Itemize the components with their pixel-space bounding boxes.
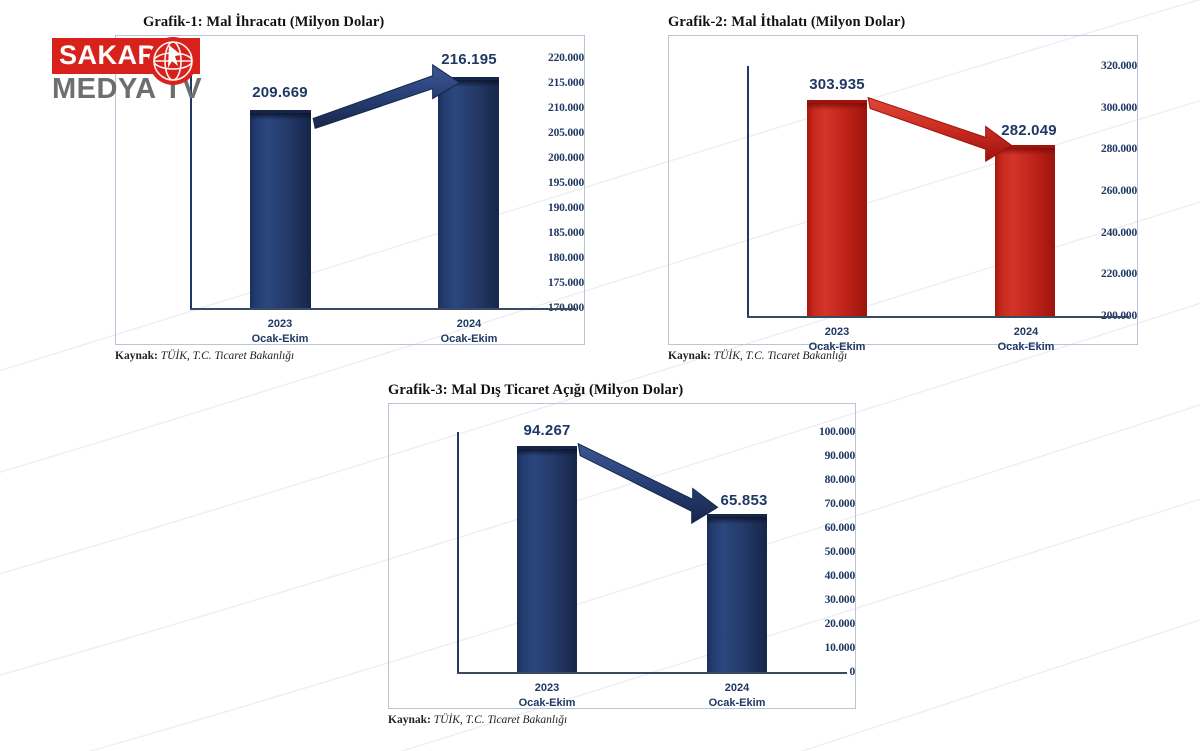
source-label-grafik-2: Kaynak: <box>668 350 711 362</box>
ytick-grafik-2-1: 300.000 <box>1065 102 1137 114</box>
ytick-grafik-3-3: 70.000 <box>793 498 855 510</box>
chart-panel-grafik-2: Grafik-2: Mal İthalatı (Milyon Dolar) 32… <box>668 14 1138 362</box>
ytick-grafik-2-2: 280.000 <box>1065 143 1137 155</box>
ytick-grafik-1-6: 190.000 <box>516 202 584 214</box>
category-period-grafik-3-2024: Ocak-Ekim <box>709 697 766 709</box>
value-label-grafik-1-2023: 209.669 <box>252 84 308 101</box>
ytick-grafik-3-9: 10.000 <box>793 642 855 654</box>
chart-title-grafik-2: Grafik-2: Mal İthalatı (Milyon Dolar) <box>668 14 1138 31</box>
category-label-grafik-3-2024: 2024 Ocak-Ekim <box>709 681 766 711</box>
ytick-grafik-3-1: 90.000 <box>793 450 855 462</box>
category-period-grafik-2-2024: Ocak-Ekim <box>998 341 1055 353</box>
category-year-grafik-1-2023: 2023 <box>268 318 292 330</box>
ytick-grafik-1-5: 195.000 <box>516 177 584 189</box>
globe-icon <box>147 35 199 87</box>
value-label-grafik-2-2023: 303.935 <box>809 76 865 93</box>
bar-grafik-3-2024[interactable] <box>707 514 767 672</box>
y-axis-line-grafik-2 <box>747 66 749 316</box>
source-note-grafik-1: Kaynak: TÜİK, T.C. Ticaret Bakanlığı <box>115 350 585 362</box>
category-year-grafik-2-2023: 2023 <box>825 326 849 338</box>
category-label-grafik-2-2024: 2024 Ocak-Ekim <box>998 325 1055 355</box>
ytick-grafik-1-8: 180.000 <box>516 252 584 264</box>
ytick-grafik-2-3: 260.000 <box>1065 185 1137 197</box>
ytick-grafik-3-2: 80.000 <box>793 474 855 486</box>
plot-area-grafik-3: 100.000 90.000 80.000 70.000 60.000 50.0… <box>389 404 855 708</box>
chart-title-grafik-3: Grafik-3: Mal Dış Ticaret Açığı (Milyon … <box>388 382 856 399</box>
ytick-grafik-1-3: 205.000 <box>516 127 584 139</box>
category-period-grafik-2-2023: Ocak-Ekim <box>809 341 866 353</box>
chart-title-grafik-1: Grafik-1: Mal İhracatı (Milyon Dolar) <box>143 14 585 31</box>
bar-grafik-2-2023[interactable] <box>807 100 867 316</box>
ytick-grafik-1-0: 220.000 <box>516 52 584 64</box>
x-axis-line-grafik-2 <box>747 316 1129 318</box>
ytick-grafik-3-7: 30.000 <box>793 594 855 606</box>
source-label-grafik-3: Kaynak: <box>388 714 431 726</box>
ytick-grafik-2-4: 240.000 <box>1065 227 1137 239</box>
category-year-grafik-3-2023: 2023 <box>535 682 559 694</box>
ytick-grafik-3-0: 100.000 <box>793 426 855 438</box>
chart-panel-grafik-3: Grafik-3: Mal Dış Ticaret Açığı (Milyon … <box>388 382 856 726</box>
ytick-grafik-3-8: 20.000 <box>793 618 855 630</box>
category-label-grafik-1-2023: 2023 Ocak-Ekim <box>252 317 309 347</box>
plot-area-grafik-2: 320.000 300.000 280.000 260.000 240.000 … <box>669 36 1137 344</box>
watermark-logo: SAKARYA MEDYA TV <box>52 38 217 104</box>
category-label-grafik-2-2023: 2023 Ocak-Ekim <box>809 325 866 355</box>
bar-grafik-3-2023[interactable] <box>517 446 577 672</box>
bar-grafik-1-2024[interactable] <box>438 77 499 308</box>
value-label-grafik-1-2024: 216.195 <box>441 51 497 68</box>
trend-arrow-grafik-3 <box>389 404 855 708</box>
x-axis-line-grafik-1 <box>190 308 576 310</box>
plot-frame-grafik-2: 320.000 300.000 280.000 260.000 240.000 … <box>668 35 1138 345</box>
bar-grafik-1-2023[interactable] <box>250 110 311 308</box>
category-period-grafik-1-2024: Ocak-Ekim <box>441 333 498 345</box>
category-label-grafik-3-2023: 2023 Ocak-Ekim <box>519 681 576 711</box>
ytick-grafik-1-2: 210.000 <box>516 102 584 114</box>
ytick-grafik-2-5: 220.000 <box>1065 268 1137 280</box>
source-text-grafik-3: TÜİK, T.C. Ticaret Bakanlığı <box>431 714 567 726</box>
ytick-grafik-2-0: 320.000 <box>1065 60 1137 72</box>
ytick-grafik-3-6: 40.000 <box>793 570 855 582</box>
category-year-grafik-1-2024: 2024 <box>457 318 481 330</box>
category-label-grafik-1-2024: 2024 Ocak-Ekim <box>441 317 498 347</box>
category-year-grafik-2-2024: 2024 <box>1014 326 1038 338</box>
ytick-grafik-1-1: 215.000 <box>516 77 584 89</box>
x-axis-line-grafik-3 <box>457 672 847 674</box>
category-year-grafik-3-2024: 2024 <box>725 682 749 694</box>
source-note-grafik-2: Kaynak: TÜİK, T.C. Ticaret Bakanlığı <box>668 350 1138 362</box>
value-label-grafik-3-2024: 65.853 <box>720 492 767 509</box>
ytick-grafik-1-7: 185.000 <box>516 227 584 239</box>
value-label-grafik-3-2023: 94.267 <box>523 422 570 439</box>
source-note-grafik-3: Kaynak: TÜİK, T.C. Ticaret Bakanlığı <box>388 714 856 726</box>
value-label-grafik-2-2024: 282.049 <box>1001 122 1057 139</box>
source-label-grafik-1: Kaynak: <box>115 350 158 362</box>
bar-grafik-2-2024[interactable] <box>995 145 1055 316</box>
ytick-grafik-3-4: 60.000 <box>793 522 855 534</box>
ytick-grafik-1-4: 200.000 <box>516 152 584 164</box>
source-text-grafik-1: TÜİK, T.C. Ticaret Bakanlığı <box>158 350 294 362</box>
ytick-grafik-3-5: 50.000 <box>793 546 855 558</box>
plot-frame-grafik-3: 100.000 90.000 80.000 70.000 60.000 50.0… <box>388 403 856 709</box>
y-axis-line-grafik-3 <box>457 432 459 672</box>
category-period-grafik-3-2023: Ocak-Ekim <box>519 697 576 709</box>
category-period-grafik-1-2023: Ocak-Ekim <box>252 333 309 345</box>
ytick-grafik-1-9: 175.000 <box>516 277 584 289</box>
